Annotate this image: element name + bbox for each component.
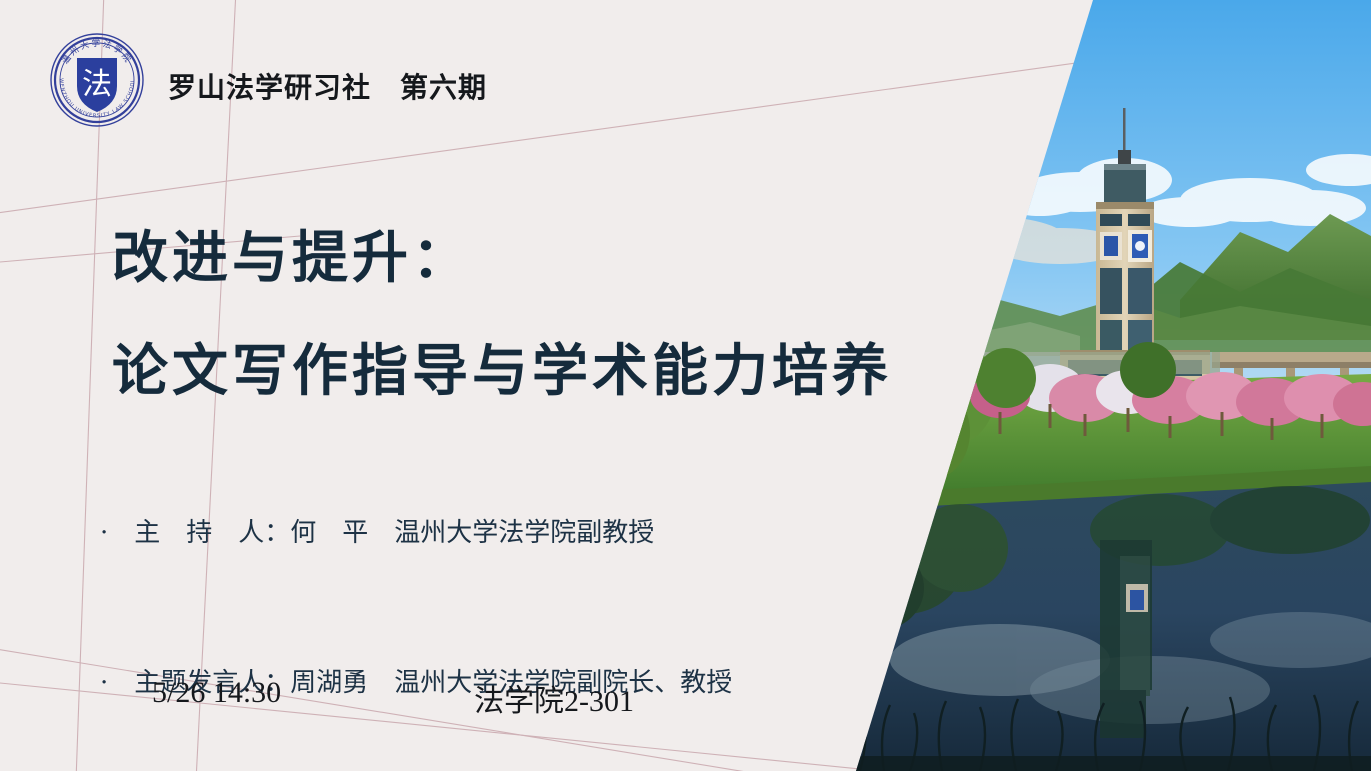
event-datetime: 5/26 14:30: [152, 676, 281, 710]
event-location: 法学院2-301: [474, 676, 634, 720]
tower-reflection: [1100, 540, 1152, 738]
slide-title-line-2: 论文写作指导与学术能力培养: [112, 336, 892, 408]
slide-title-line-1: 改进与提升：: [112, 223, 892, 295]
presentation-slide: 温州大学法学院 WENZHOU UNIVERSITY LAW SCHOOL 法 …: [0, 0, 1371, 771]
list-item-host: · 主 持 人：何 平 温州大学法学院副教授: [100, 508, 732, 558]
slide-footer: 5/26 14:30 法学院2-301: [0, 676, 860, 720]
seal-shield-character: 法: [82, 67, 112, 102]
series-header-title: 罗山法学研习社 第六期: [168, 66, 487, 106]
university-seal-logo: 温州大学法学院 WENZHOU UNIVERSITY LAW SCHOOL 法: [47, 30, 147, 130]
